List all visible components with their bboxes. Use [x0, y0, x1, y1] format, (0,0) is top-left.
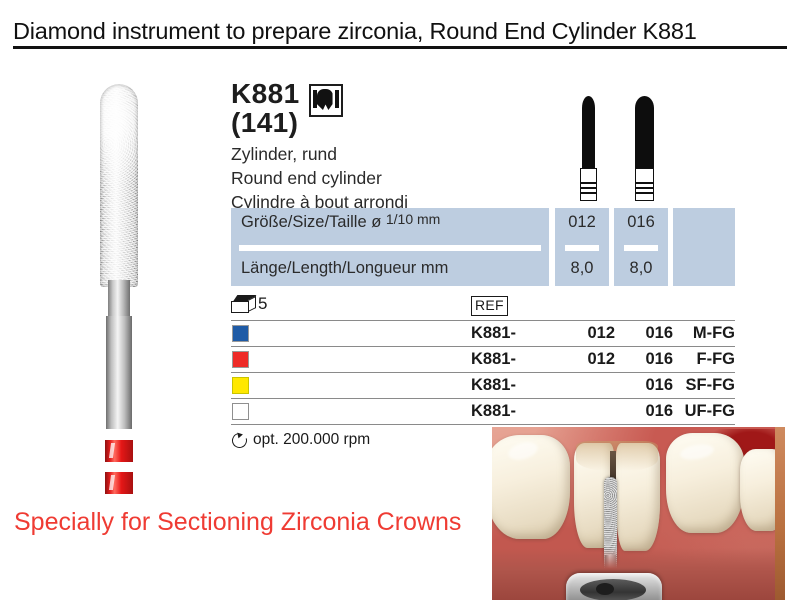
- bur-012-groove: [580, 187, 597, 189]
- table-row-divider: [624, 245, 658, 251]
- speed-text: opt. 200.000 rpm: [253, 431, 370, 449]
- clinical-photo-crown-sectioning: [492, 427, 785, 600]
- table-row[interactable]: K881- 016 UF-FG: [231, 398, 735, 425]
- row-size2: 016: [625, 350, 673, 369]
- table-row[interactable]: K881- 016 SF-FG: [231, 372, 735, 398]
- crown-preparation-icon: [309, 84, 343, 117]
- size-value-016: 016: [614, 213, 668, 232]
- page-title: Diamond instrument to prepare zirconia, …: [13, 18, 787, 49]
- bur-016-working-part: [635, 96, 654, 171]
- bur-016-groove: [635, 187, 654, 189]
- tagline: Specially for Sectioning Zirconia Crowns: [14, 508, 461, 537]
- row-ref: K881-: [471, 402, 516, 421]
- grit-swatch-superfine: [232, 377, 249, 394]
- table-row[interactable]: K881- 012 016 M-FG: [231, 320, 735, 346]
- title-underline: [13, 46, 787, 49]
- diamond-bur-illustration: [88, 84, 152, 429]
- row-ref: K881-: [471, 324, 516, 343]
- product-name-de: Zylinder, rund: [231, 143, 551, 167]
- size-row-label: Größe/Size/Taille ø 1/10 mm: [241, 213, 440, 232]
- grit-swatch-fine: [232, 351, 249, 368]
- ring-highlight: [109, 475, 115, 490]
- page-title-text: Diamond instrument to prepare zirconia, …: [13, 18, 787, 45]
- product-header: K881 (141) Zylinder, rund Round end cyli…: [231, 80, 551, 214]
- size-row-label-text: Größe/Size/Taille ø: [241, 213, 386, 231]
- product-code-row: K881 (141): [231, 80, 551, 137]
- table-row-divider: [239, 245, 541, 251]
- row-size2: 016: [625, 402, 673, 421]
- pack-quantity: 5: [258, 294, 267, 314]
- crown-icon-left-wall: [313, 90, 317, 108]
- speed-recommendation: opt. 200.000 rpm: [232, 431, 370, 449]
- row-grit-code: SF-FG: [671, 376, 735, 395]
- bur-diamond-head: [100, 84, 138, 287]
- crown-icon-right-wall: [335, 90, 339, 108]
- ref-badge: REF: [471, 296, 508, 316]
- size-row-fraction: 1/10 mm: [386, 211, 440, 227]
- bur-016-groove: [635, 182, 654, 184]
- product-code: K881: [231, 80, 300, 109]
- bur-012-groove: [580, 182, 597, 184]
- grit-swatch-medium: [232, 325, 249, 342]
- length-row-label: Länge/Length/Longueur mm: [241, 259, 448, 278]
- product-alt-code: (141): [231, 109, 300, 138]
- row-size2: 016: [625, 324, 673, 343]
- bur-silhouette-012: [572, 96, 606, 201]
- length-value-012: 8,0: [555, 259, 609, 278]
- bur-color-ring-lower: [105, 472, 133, 494]
- grit-swatch-ultrafine: [232, 403, 249, 420]
- table-row-divider: [565, 245, 599, 251]
- bur-016-groove: [635, 192, 654, 194]
- row-size1: 012: [567, 350, 615, 369]
- row-grit-code: F-FG: [671, 350, 735, 369]
- photo-crown-margin-shade: [576, 441, 658, 471]
- photo-right-edge: [775, 427, 785, 600]
- bur-012-shank: [580, 168, 597, 201]
- ring-highlight: [109, 443, 115, 458]
- rotation-speed-icon: [232, 433, 247, 448]
- row-size1: 012: [567, 324, 615, 343]
- bur-016-shank: [635, 168, 654, 201]
- length-value-016: 8,0: [614, 259, 668, 278]
- row-grit-code: M-FG: [671, 324, 735, 343]
- box-icon-front: [231, 301, 249, 313]
- crown-icon-tooth: [317, 89, 333, 110]
- bur-shank: [106, 316, 132, 429]
- product-variant-table: K881- 012 016 M-FG K881- 012 016 F-FG K8…: [231, 320, 735, 425]
- product-name-en: Round end cylinder: [231, 167, 551, 191]
- row-size2: 016: [625, 376, 673, 395]
- bur-012-groove: [580, 192, 597, 194]
- box-icon-side: [248, 296, 256, 312]
- photo-handpiece-bore: [596, 583, 614, 595]
- bur-neck: [108, 280, 130, 320]
- bur-color-ring-upper: [105, 440, 133, 462]
- pack-and-ref-row: 5 REF: [231, 294, 735, 318]
- table-column-empty: [673, 208, 735, 286]
- row-ref: K881-: [471, 350, 516, 369]
- row-grit-code: UF-FG: [671, 402, 735, 421]
- row-ref: K881-: [471, 376, 516, 395]
- package-box-icon: [231, 295, 257, 314]
- bur-silhouette-016: [628, 96, 662, 201]
- bur-size-illustrations: [566, 96, 686, 201]
- product-code-column: K881 (141): [231, 80, 300, 137]
- product-names: Zylinder, rund Round end cylinder Cylind…: [231, 143, 551, 214]
- table-row[interactable]: K881- 012 016 F-FG: [231, 346, 735, 372]
- bur-012-working-part: [582, 96, 595, 171]
- photo-handpiece-head: [566, 573, 662, 600]
- size-value-012: 012: [555, 213, 609, 232]
